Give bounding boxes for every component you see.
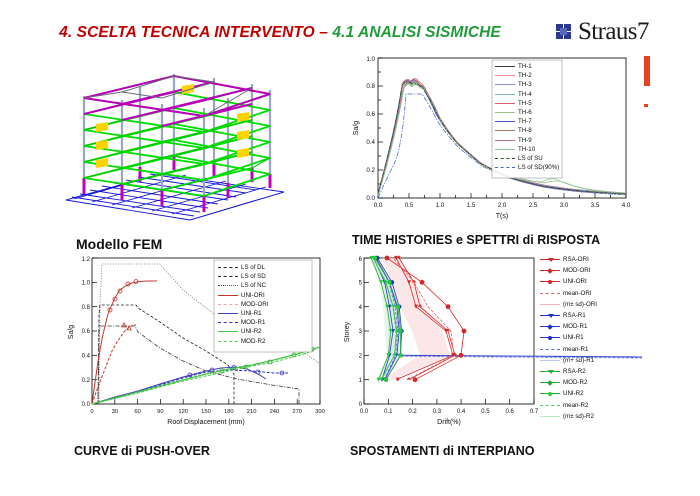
- svg-text:0.0: 0.0: [360, 409, 369, 415]
- caption-spostamenti: SPOSTAMENTI di INTERPIANO: [350, 444, 535, 458]
- axis-label-y: Sa/g: [68, 325, 75, 340]
- svg-text:270: 270: [292, 409, 302, 415]
- svg-text:1.2: 1.2: [82, 257, 91, 263]
- legend-swatch: [540, 390, 560, 397]
- straus7-wordmark: Straus7: [578, 18, 649, 46]
- legend-swatch: [218, 282, 238, 289]
- axis-label-x: Roof Displacement (mm): [167, 419, 244, 426]
- legend-item: MOD-R1: [218, 318, 308, 327]
- legend-item: UNI-ORI: [540, 276, 640, 287]
- legend-swatch: [495, 164, 515, 171]
- svg-text:300: 300: [315, 409, 325, 415]
- legend-swatch: [495, 72, 515, 79]
- straus7-logo: Straus7: [556, 20, 696, 50]
- svg-text:0.8: 0.8: [82, 305, 91, 311]
- legend-item: LS of NC: [218, 281, 308, 290]
- legend-swatch: [540, 312, 560, 319]
- svg-text:0: 0: [359, 402, 363, 408]
- straus7-mark-icon: [556, 24, 576, 44]
- svg-text:0.0: 0.0: [82, 402, 91, 408]
- legend-swatch: [540, 346, 560, 353]
- caption-pushover: CURVE di PUSH-OVER: [74, 444, 210, 458]
- svg-text:0.5: 0.5: [405, 202, 414, 209]
- chart-time-histories: 0.00.2 0.4 0.6 0.8 1.0 0.00.51.0 1.52.02…: [344, 52, 644, 232]
- legend-swatch: [540, 402, 560, 409]
- legend-swatch: [495, 118, 515, 125]
- legend-swatch: [540, 256, 560, 263]
- legend-item: LS of SD: [218, 272, 308, 281]
- legend-swatch: [218, 310, 238, 317]
- legend-swatch: [495, 146, 515, 153]
- svg-text:0.4: 0.4: [82, 354, 91, 360]
- caption-fem: Modello FEM: [76, 236, 162, 252]
- svg-text:150: 150: [201, 409, 211, 415]
- legend-pushover-items: LS of DL LS of SD LS of NC UNI-ORI MOD-O…: [214, 260, 312, 352]
- legend-swatch: [495, 91, 515, 98]
- legend-swatch: [495, 63, 515, 70]
- axis-label-x: T(s): [496, 213, 508, 220]
- legend-item: RSA-R2: [540, 366, 640, 377]
- svg-text:1.0: 1.0: [436, 202, 445, 209]
- legend-item: RSA-R1: [540, 310, 640, 321]
- legend-item: MOD-ORI: [540, 265, 640, 276]
- svg-text:4.0: 4.0: [622, 202, 631, 209]
- svg-text:120: 120: [178, 409, 188, 415]
- svg-text:3.0: 3.0: [560, 202, 569, 209]
- legend-item: TH-10: [495, 145, 559, 154]
- svg-text:0.8: 0.8: [366, 83, 375, 90]
- legend-swatch: [540, 368, 560, 375]
- svg-text:210: 210: [247, 409, 257, 415]
- svg-text:240: 240: [270, 409, 280, 415]
- legend-item: MOD-R1: [540, 321, 640, 332]
- legend-swatch: [218, 328, 238, 335]
- svg-text:2: 2: [359, 354, 363, 360]
- legend-swatch: [495, 109, 515, 116]
- legend-item: UNI-R2: [218, 327, 308, 336]
- chart-spostamenti: 012 345 6 0.00.10.2 0.30.40.5 0.60.7 Dri…: [342, 252, 642, 442]
- svg-text:0.4: 0.4: [366, 139, 375, 146]
- legend-item: MOD-ORI: [218, 300, 308, 309]
- legend-swatch: [495, 155, 515, 162]
- legend-item: MOD-R2: [218, 337, 308, 346]
- legend-item: TH-8: [495, 126, 559, 135]
- axis-label-y: Storey: [344, 321, 351, 342]
- svg-text:4: 4: [359, 305, 363, 311]
- svg-text:0.2: 0.2: [408, 409, 417, 415]
- legend-item: TH-2: [495, 71, 559, 80]
- legend-item: TH-6: [495, 108, 559, 117]
- legend-swatch: [540, 301, 560, 308]
- legend-spostamenti-items: RSA-ORI MOD-ORI UNI-ORI mean-ORI (m± sd)…: [538, 254, 642, 430]
- legend-swatch: [218, 264, 238, 271]
- svg-text:3: 3: [359, 329, 363, 335]
- legend-item: TH-5: [495, 99, 559, 108]
- legend-swatch: [218, 338, 238, 345]
- legend-swatch: [540, 290, 560, 297]
- legend-swatch: [218, 273, 238, 280]
- legend-item: LS of SU: [495, 154, 559, 163]
- legend-swatch: [218, 301, 238, 308]
- svg-text:0: 0: [90, 409, 93, 415]
- svg-text:0.3: 0.3: [433, 409, 442, 415]
- svg-text:0.6: 0.6: [366, 111, 375, 118]
- legend-swatch: [540, 357, 560, 364]
- caption-time-histories: TIME HISTORIES e SPETTRI di RISPOSTA: [352, 233, 600, 247]
- fem-model-image: [22, 52, 322, 232]
- legend-swatch: [495, 137, 515, 144]
- legend-swatch: [540, 267, 560, 274]
- legend-item: LS of SD(90%): [495, 163, 559, 172]
- legend-item: UNI-R1: [540, 332, 640, 343]
- legend-swatch: [540, 379, 560, 386]
- legend-item: TH-3: [495, 80, 559, 89]
- svg-text:90: 90: [157, 409, 163, 415]
- svg-text:0.4: 0.4: [457, 409, 466, 415]
- svg-text:2.5: 2.5: [529, 202, 538, 209]
- legend-item: mean-R1: [540, 344, 640, 355]
- legend-item: RSA-ORI: [540, 254, 640, 265]
- svg-text:60: 60: [134, 409, 140, 415]
- legend-time-histories-items: TH-1 TH-2 TH-3 TH-4 TH-5 TH-6 TH-7 TH-8 …: [492, 60, 562, 178]
- svg-text:5: 5: [359, 281, 363, 287]
- axis-label-y: Sa/g: [353, 121, 360, 136]
- page-title-part-green: 4.1 ANALISI SISMICHE: [332, 24, 501, 41]
- legend-swatch: [540, 323, 560, 330]
- svg-text:2.0: 2.0: [498, 202, 507, 209]
- svg-text:1.5: 1.5: [467, 202, 476, 209]
- svg-text:0.2: 0.2: [82, 378, 91, 384]
- legend-item: (m+ sd)-R1: [540, 355, 640, 366]
- legend-swatch: [218, 292, 238, 299]
- legend-item: (m± sd)-ORI: [540, 299, 640, 310]
- legend-item: TH-4: [495, 90, 559, 99]
- legend-swatch: [540, 413, 560, 420]
- legend-swatch: [540, 278, 560, 285]
- legend-item: mean-ORI: [540, 288, 640, 299]
- legend-swatch: [495, 127, 515, 134]
- svg-text:0.0: 0.0: [366, 195, 375, 202]
- svg-text:30: 30: [112, 409, 118, 415]
- legend-item: UNI-R1: [218, 309, 308, 318]
- svg-text:0.5: 0.5: [481, 409, 490, 415]
- legend-item: TH-7: [495, 117, 559, 126]
- legend-item: MOD-R2: [540, 377, 640, 388]
- legend-swatch: [218, 319, 238, 326]
- legend-item: UNI-ORI: [218, 291, 308, 300]
- svg-text:0.6: 0.6: [82, 329, 91, 335]
- legend-swatch: [540, 334, 560, 341]
- legend-item: (m± sd)-R2: [540, 411, 640, 422]
- page-title-part-red: 4. SCELTA TECNICA INTERVENTO –: [59, 24, 332, 41]
- svg-text:6: 6: [359, 257, 363, 263]
- svg-text:1.0: 1.0: [366, 56, 375, 63]
- legend-swatch: [495, 100, 515, 107]
- legend-item: mean-R2: [540, 399, 640, 410]
- legend-item: TH-1: [495, 62, 559, 71]
- chart-pushover: 0.00.20.4 0.60.81.0 1.2 03060 90120150 1…: [62, 252, 332, 442]
- legend-swatch: [495, 81, 515, 88]
- axis-label-x: Drift(%): [437, 419, 461, 426]
- svg-text:0.6: 0.6: [506, 409, 515, 415]
- svg-text:0.2: 0.2: [366, 167, 375, 174]
- legend-item: TH-9: [495, 136, 559, 145]
- svg-text:3.5: 3.5: [591, 202, 600, 209]
- slide-title: 4. SCELTA TECNICA INTERVENTO – 4.1 ANALI…: [0, 24, 560, 42]
- legend-item: LS of DL: [218, 263, 308, 272]
- svg-text:180: 180: [224, 409, 234, 415]
- legend-item: UNI-R2: [540, 388, 640, 399]
- svg-text:1: 1: [359, 378, 363, 384]
- svg-text:0.0: 0.0: [374, 202, 383, 209]
- svg-text:0.1: 0.1: [384, 409, 393, 415]
- svg-text:1.0: 1.0: [82, 281, 91, 287]
